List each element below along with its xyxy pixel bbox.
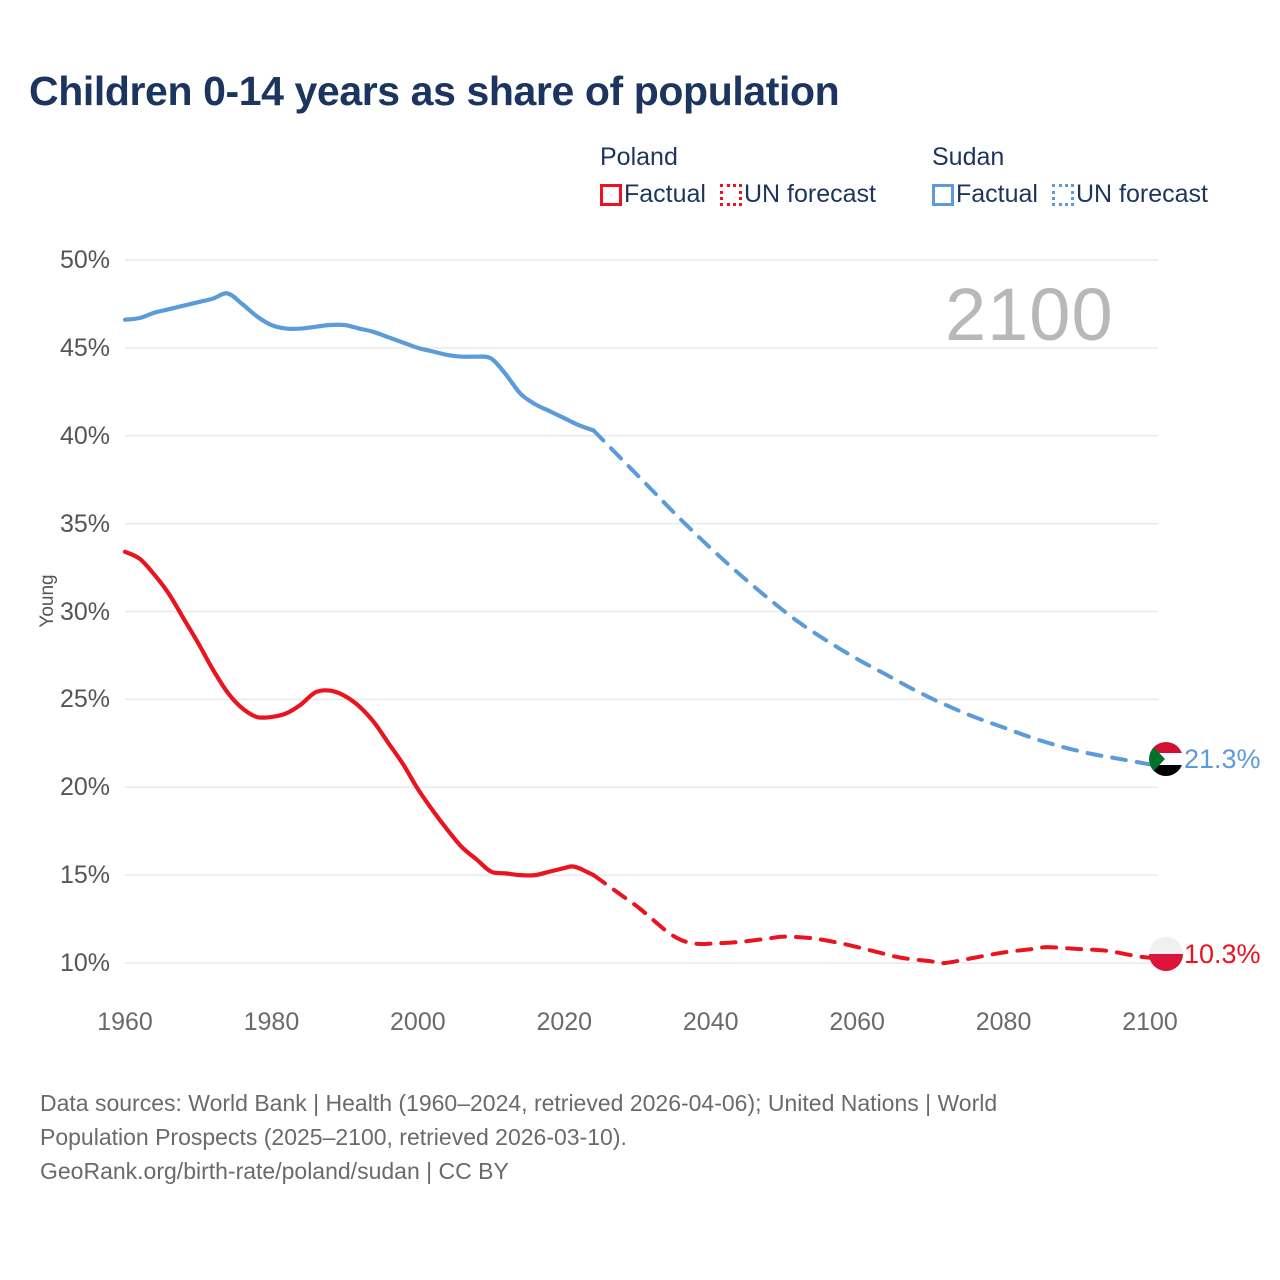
- end-label-sudan: 21.3%: [1184, 744, 1261, 775]
- poland-flag-icon: [1149, 937, 1183, 971]
- sudan-flag-icon: [1149, 742, 1183, 776]
- series-line-poland-factual: [125, 552, 594, 876]
- series-line-sudan-factual: [125, 293, 594, 430]
- footer-sources: Data sources: World Bank | Health (1960–…: [40, 1086, 1220, 1188]
- footer-source-link: GeoRank.org/birth-rate/poland/sudan | CC…: [40, 1154, 1220, 1188]
- series-line-poland-forecast: [594, 875, 1150, 963]
- end-label-poland: 10.3%: [1184, 939, 1261, 970]
- series-line-sudan-forecast: [594, 430, 1150, 764]
- chart-canvas: [0, 0, 1280, 1060]
- plot-area: Young 10%15%20%25%30%35%40%45%50% 196019…: [0, 0, 1280, 1060]
- footer-line-2: Population Prospects (2025–2100, retriev…: [40, 1120, 1220, 1154]
- footer-line-1: Data sources: World Bank | Health (1960–…: [40, 1086, 1220, 1120]
- chart-page: Children 0-14 years as share of populati…: [0, 0, 1280, 1280]
- year-watermark: 2100: [945, 272, 1114, 357]
